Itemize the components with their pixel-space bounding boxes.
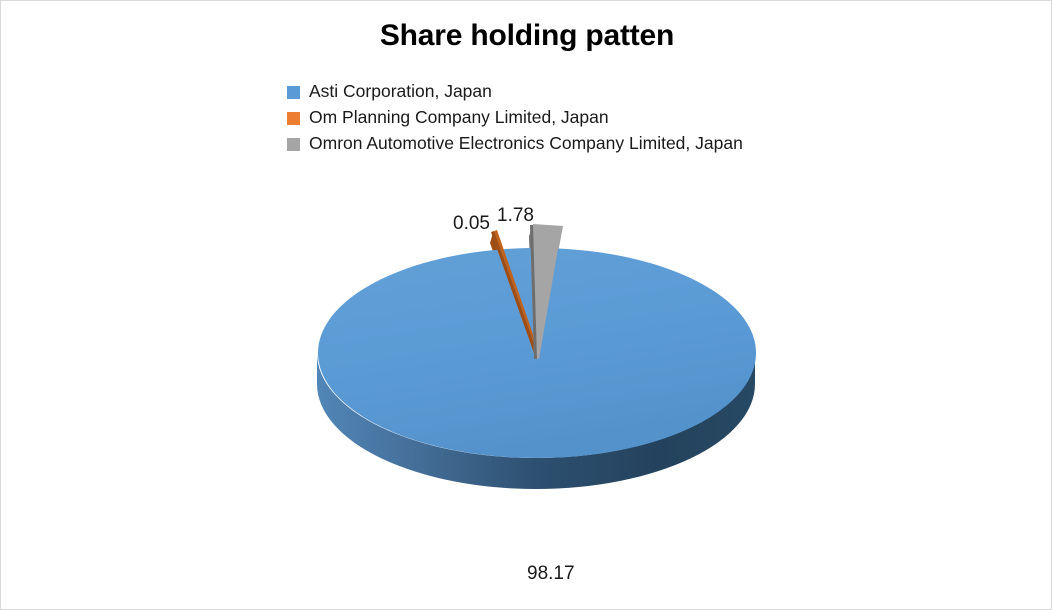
pie-chart-svg bbox=[301, 196, 771, 566]
legend-item-asti[interactable]: Asti Corporation, Japan bbox=[287, 79, 847, 105]
legend-item-omron-automotive[interactable]: Omron Automotive Electronics Company Lim… bbox=[287, 131, 847, 157]
legend-swatch-blue-icon bbox=[287, 86, 300, 99]
legend-swatch-gray-icon bbox=[287, 138, 300, 151]
data-label-omron: 1.78 bbox=[497, 206, 534, 225]
chart-legend: Asti Corporation, Japan Om Planning Comp… bbox=[287, 79, 847, 157]
data-label-om-planning: 0.05 bbox=[453, 214, 490, 233]
legend-swatch-orange-icon bbox=[287, 112, 300, 125]
chart-title: Share holding patten bbox=[1, 19, 1052, 53]
legend-label-asti: Asti Corporation, Japan bbox=[309, 83, 492, 101]
legend-label-omron-automotive: Omron Automotive Electronics Company Lim… bbox=[309, 135, 743, 153]
legend-item-om-planning[interactable]: Om Planning Company Limited, Japan bbox=[287, 105, 847, 131]
pie-chart[interactable] bbox=[301, 196, 771, 566]
chart-frame: Share holding patten Asti Corporation, J… bbox=[0, 0, 1052, 610]
legend-label-om-planning: Om Planning Company Limited, Japan bbox=[309, 109, 609, 127]
data-label-asti: 98.17 bbox=[527, 564, 575, 583]
